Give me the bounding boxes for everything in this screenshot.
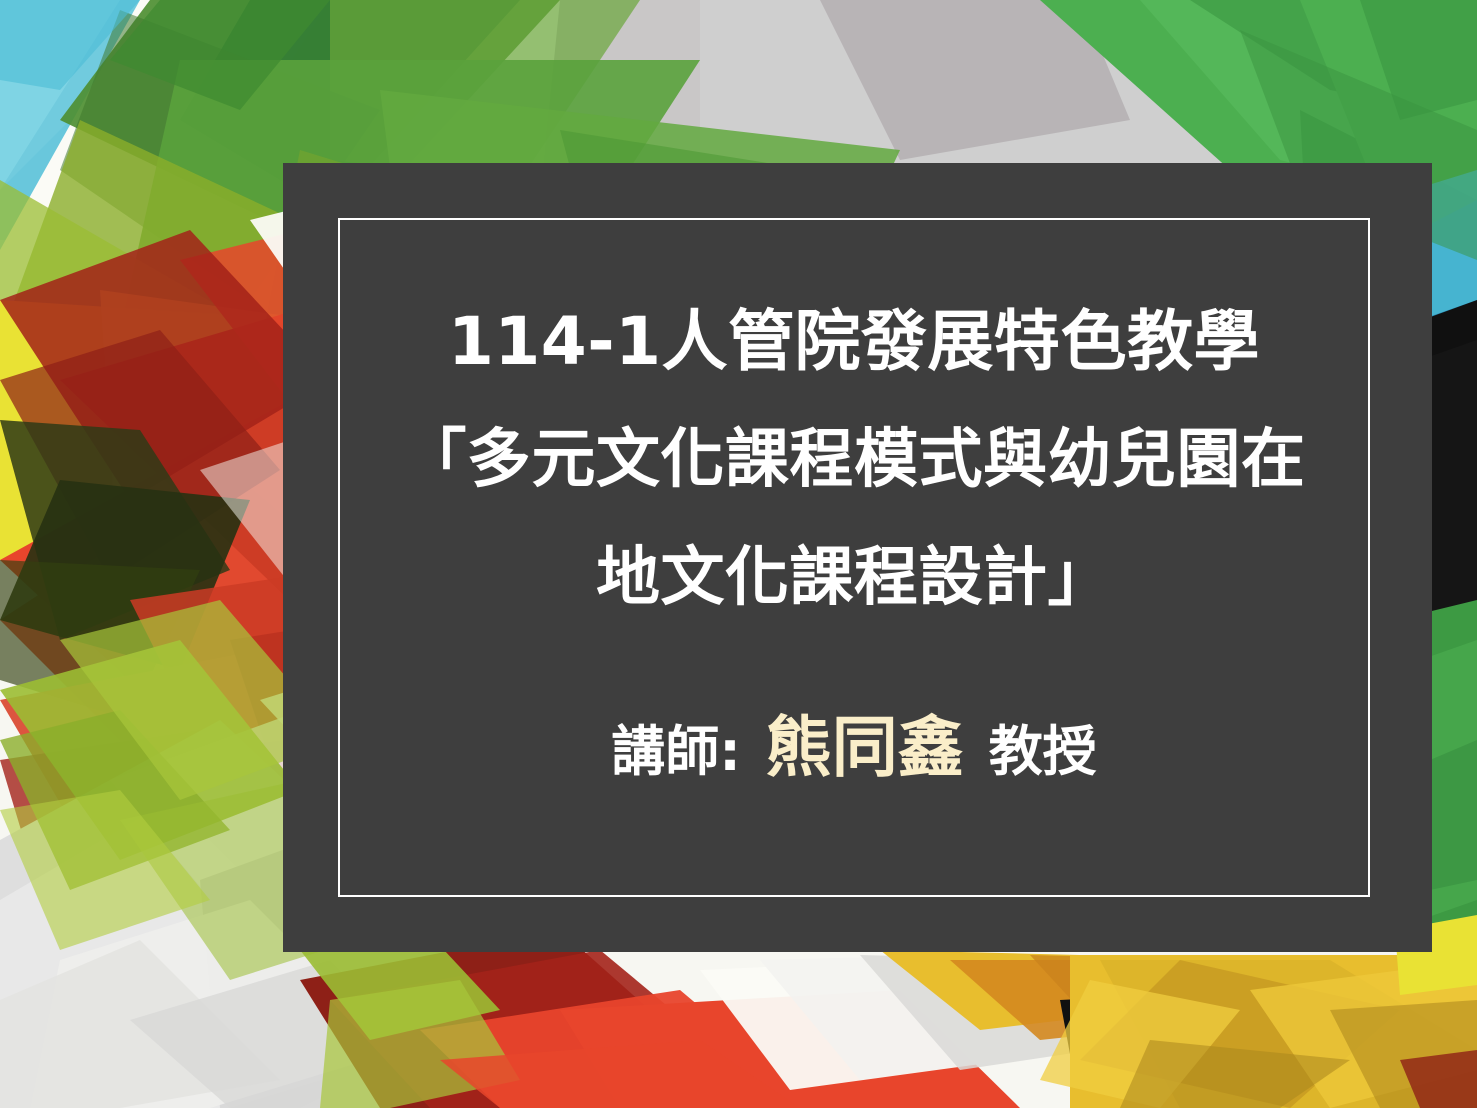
title-line-1: 114-1人管院發展特色教學 (362, 283, 1346, 401)
title-panel: 114-1人管院發展特色教學 「多元文化課程模式與幼兒園在 地文化課程設計」 講… (283, 163, 1432, 952)
presentation-slide: 114-1人管院發展特色教學 「多元文化課程模式與幼兒園在 地文化課程設計」 講… (0, 0, 1477, 1108)
speaker-block: 講師: 熊同鑫 教授 (338, 708, 1370, 792)
speaker-line: 講師: 熊同鑫 教授 (362, 708, 1346, 792)
speaker-label: 講師: (611, 720, 741, 783)
title-line-3: 地文化課程設計」 (362, 519, 1346, 637)
title-text-block: 114-1人管院發展特色教學 「多元文化課程模式與幼兒園在 地文化課程設計」 (338, 283, 1370, 637)
speaker-name: 熊同鑫 (762, 709, 968, 786)
title-line-2: 「多元文化課程模式與幼兒園在 (362, 401, 1346, 519)
speaker-title-suffix: 教授 (989, 720, 1097, 783)
